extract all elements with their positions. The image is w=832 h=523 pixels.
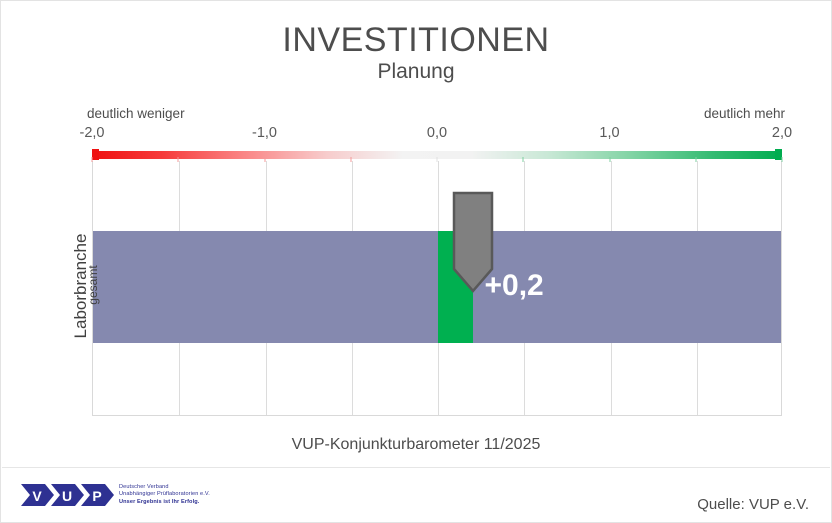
scale-label-left: deutlich weniger (87, 106, 185, 121)
scale-minor-tick (523, 157, 524, 162)
y-axis-label-sub: gesamt (86, 215, 100, 355)
scale-minor-tick (782, 157, 783, 162)
chart-caption: VUP-Konjunkturbarometer 11/2025 (1, 436, 831, 454)
vup-logo: V U P (21, 480, 121, 510)
plot-area: +0,2 (92, 161, 782, 416)
page-title: INVESTITIONEN (1, 23, 831, 57)
scale-minor-tick (437, 157, 438, 162)
scale-label-right: deutlich mehr (704, 106, 785, 121)
x-tick-label: 2,0 (772, 125, 792, 141)
chart-page: INVESTITIONEN Planung deutlich weniger d… (0, 0, 832, 523)
x-tick-label: -1,0 (252, 125, 277, 141)
logo-tagline-line1: Deutscher Verband (119, 484, 210, 491)
scale-minor-tick (350, 157, 351, 162)
x-axis-tick-labels: -2,0-1,00,01,02,0 (92, 125, 782, 143)
logo-tagline-line2: Unabhängiger Prüflaboratorien e.V. (119, 491, 210, 498)
x-tick-label: -2,0 (80, 125, 105, 141)
value-label: +0,2 (485, 271, 544, 301)
x-tick-label: 0,0 (427, 125, 447, 141)
logo-tagline-line3: Unser Ergebnis ist Ihr Erfolg. (119, 499, 210, 506)
scale-minor-tick (695, 157, 696, 162)
x-tick-label: 1,0 (599, 125, 619, 141)
logo-letter-p: P (92, 488, 101, 504)
scale-minor-tick (178, 157, 179, 162)
logo-letter-v: V (32, 488, 42, 504)
footer-divider (2, 467, 830, 468)
source-note: Quelle: VUP e.V. (697, 496, 809, 513)
y-axis-label: Laborbranche gesamt (53, 226, 93, 366)
scale-minor-tick (609, 157, 610, 162)
page-subtitle: Planung (1, 61, 831, 82)
scale-gradient-cap-left (92, 149, 99, 160)
logo-letter-u: U (62, 488, 72, 504)
logo-tagline: Deutscher Verband Unabhängiger Prüflabor… (119, 484, 210, 506)
scale-minor-tick (92, 157, 93, 162)
scale-minor-tick (264, 157, 265, 162)
category-band (93, 231, 781, 343)
